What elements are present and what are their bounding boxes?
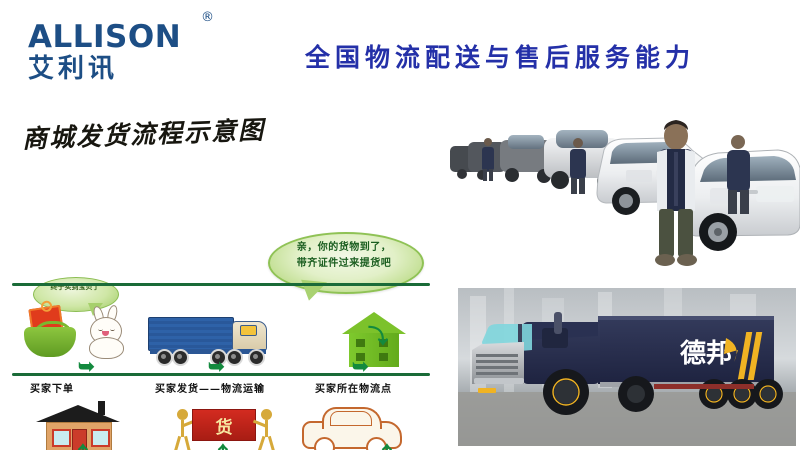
delivery-notice-bubble-text: 亲，你的货物到了， 带齐证件过来提货吧 — [272, 240, 416, 271]
slide-header: ALLISON ® 艾利讯 全国物流配送与售后服务能力 — [0, 0, 800, 100]
deppon-logo-text: 德邦 — [680, 339, 732, 369]
delivery-notice-line1: 亲，你的货物到了， — [272, 240, 416, 256]
truck-wheel — [248, 349, 265, 366]
truck-cab-window — [240, 325, 257, 336]
delivery-notice-line2: 带齐证件过来提货吧 — [272, 256, 416, 272]
logo-chinese-text: 艾利讯 — [28, 56, 208, 83]
flow-diagram-title: 商城发货流程示意图 — [21, 110, 265, 155]
carrier-figure-left — [170, 409, 194, 450]
flow-arrow-down-icon: ⤵ — [368, 327, 388, 347]
deppon-logistics-truck-photo: 德邦 — [458, 288, 796, 446]
flow-divider-top — [12, 283, 430, 286]
flow-arrow-icon: ⤴ — [208, 445, 228, 450]
car-window — [330, 411, 372, 426]
truck-wheel — [226, 349, 243, 366]
slide-canvas: ALLISON ® 艾利讯 全国物流配送与售后服务能力 商城发货流程示意图 亲，… — [0, 0, 800, 450]
allison-logo: ALLISON ® 艾利讯 — [28, 22, 208, 84]
basket-body — [24, 327, 76, 357]
bunny-eye-right — [110, 327, 115, 331]
house-window — [91, 429, 110, 447]
flow-arrow-icon: ⤴ — [372, 445, 392, 450]
label-buyer-places-order: 买家下单 — [30, 380, 74, 395]
cartoon-bunny-icon — [84, 311, 128, 359]
flow-divider-middle — [12, 373, 430, 376]
label-buyer-local-logistics-point: 买家所在物流点 — [315, 380, 392, 395]
carrier-figure-right — [254, 409, 278, 450]
registered-trademark-icon: ® — [201, 10, 214, 25]
house-roof — [36, 405, 120, 422]
truck-photo-graphic: 德邦 — [458, 288, 796, 446]
label-seller-ships-logistics: 买家发货——物流运输 — [155, 380, 265, 395]
shipping-flow-diagram: 商城发货流程示意图 亲，你的货物到了， 带齐证件过来提货吧 终于买到宝贝了 — [0, 105, 440, 410]
logo-latin-text: ALLISON — [28, 22, 208, 53]
truck-wheel — [156, 349, 173, 366]
shopping-basket-gift-icon — [22, 305, 78, 359]
cargo-box-text: 货 — [193, 413, 255, 438]
page-title: 全国物流配送与售后服务能力 — [240, 38, 760, 74]
service-vehicle-fleet-photo — [448, 112, 800, 288]
cargo-box: 货 — [192, 409, 256, 441]
fleet-photo-graphic — [448, 112, 800, 288]
truck-wheel — [172, 349, 189, 366]
truck-trailer — [148, 317, 234, 351]
flow-arrow-icon: ⤴ — [68, 445, 88, 450]
